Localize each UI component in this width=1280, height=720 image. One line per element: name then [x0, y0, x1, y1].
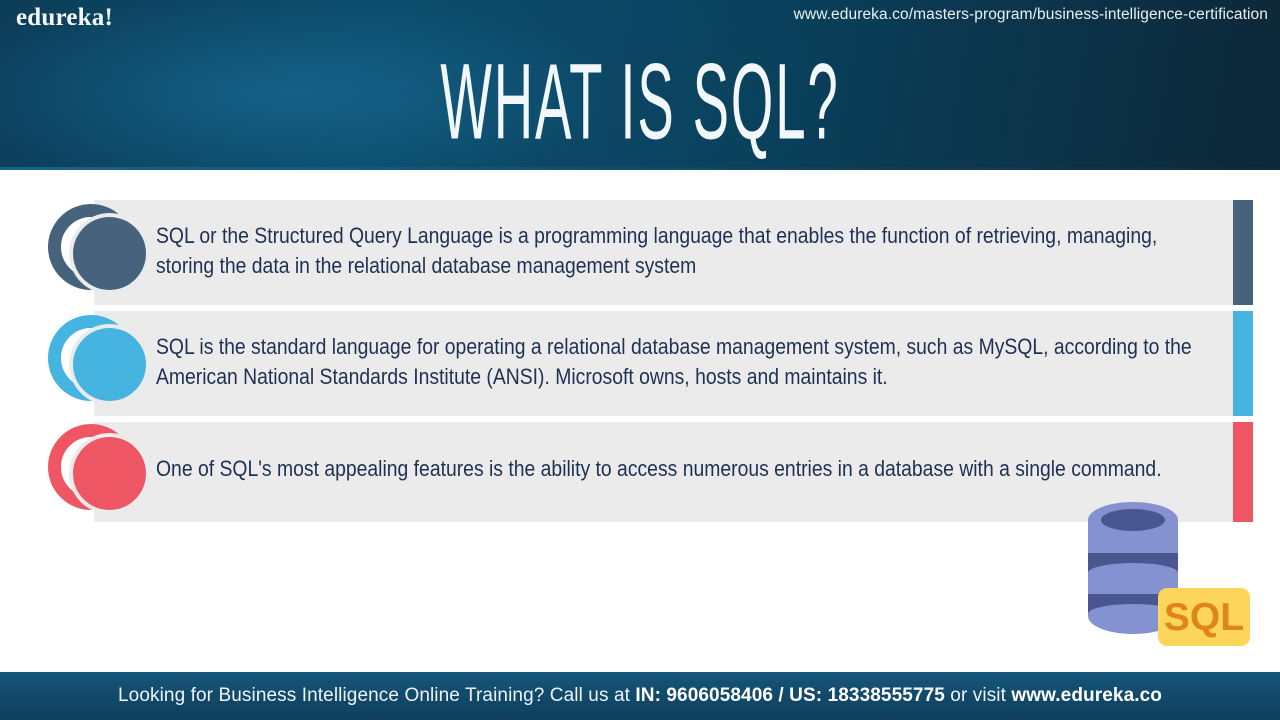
- database-cylinder-icon: SQL: [1078, 498, 1258, 653]
- list-item: SQL is the standard language for operati…: [94, 311, 1253, 416]
- course-url-label[interactable]: www.edureka.co/masters-program/business-…: [794, 6, 1268, 24]
- footer-text: Looking for Business Intelligence Online…: [118, 685, 1162, 707]
- page-title: WHAT IS SQL?: [243, 48, 1037, 155]
- footer-lead: Looking for Business Intelligence Online…: [118, 685, 635, 706]
- ring-disc-icon-slate: [48, 204, 146, 302]
- footer-gap: [0, 665, 1280, 672]
- slide-header: edureka! www.edureka.co/masters-program/…: [0, 0, 1280, 170]
- list-item-text: One of SQL's most appealing features is …: [156, 454, 1203, 484]
- edureka-logo[interactable]: edureka!: [16, 4, 113, 32]
- footer-banner: Looking for Business Intelligence Online…: [0, 672, 1280, 720]
- sql-badge: SQL: [1158, 588, 1250, 646]
- footer-mid: or visit: [945, 685, 1011, 706]
- svg-text:SQL: SQL: [1164, 596, 1244, 639]
- footer-phones: IN: 9606058406 / US: 18338555775: [635, 685, 945, 706]
- footer-site-link[interactable]: www.edureka.co: [1011, 685, 1162, 706]
- list-item: SQL or the Structured Query Language is …: [94, 200, 1253, 305]
- ring-disc-icon-blue: [48, 315, 146, 413]
- accent-bar: [1233, 311, 1253, 416]
- ring-disc-icon-red: [48, 424, 146, 522]
- list-item-text: SQL is the standard language for operati…: [156, 332, 1203, 392]
- accent-bar: [1233, 200, 1253, 305]
- list-item-text: SQL or the Structured Query Language is …: [156, 221, 1203, 281]
